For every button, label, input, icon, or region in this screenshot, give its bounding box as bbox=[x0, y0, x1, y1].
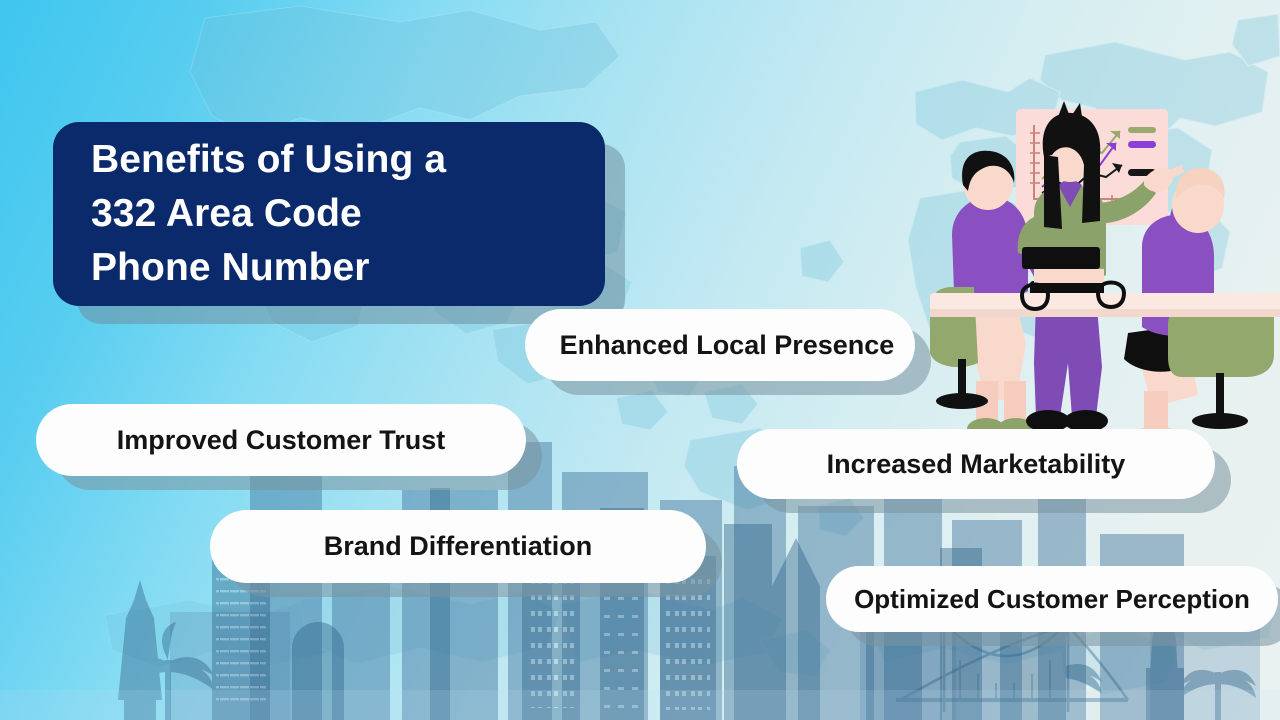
benefit-pill-enhanced-local-presence[interactable]: Enhanced Local Presence bbox=[525, 309, 915, 381]
benefit-pill-optimized-customer-perception[interactable]: Optimized Customer Perception bbox=[826, 566, 1278, 632]
benefit-label: Improved Customer Trust bbox=[117, 425, 446, 456]
page-title: Benefits of Using a 332 Area Code Phone … bbox=[91, 133, 446, 294]
benefit-pill-increased-marketability[interactable]: Increased Marketability bbox=[737, 429, 1215, 499]
benefit-label: Optimized Customer Perception bbox=[854, 584, 1250, 615]
benefit-pill-brand-differentiation[interactable]: Brand Differentiation bbox=[210, 510, 706, 583]
benefit-label: Brand Differentiation bbox=[324, 531, 593, 562]
benefit-label: Enhanced Local Presence bbox=[560, 330, 895, 361]
benefit-label: Increased Marketability bbox=[827, 449, 1126, 480]
benefit-pill-improved-customer-trust[interactable]: Improved Customer Trust bbox=[36, 404, 526, 476]
title-card: Benefits of Using a 332 Area Code Phone … bbox=[53, 122, 605, 306]
infographic-canvas: Benefits of Using a 332 Area Code Phone … bbox=[0, 0, 1280, 720]
business-meeting-illustration bbox=[930, 95, 1280, 455]
